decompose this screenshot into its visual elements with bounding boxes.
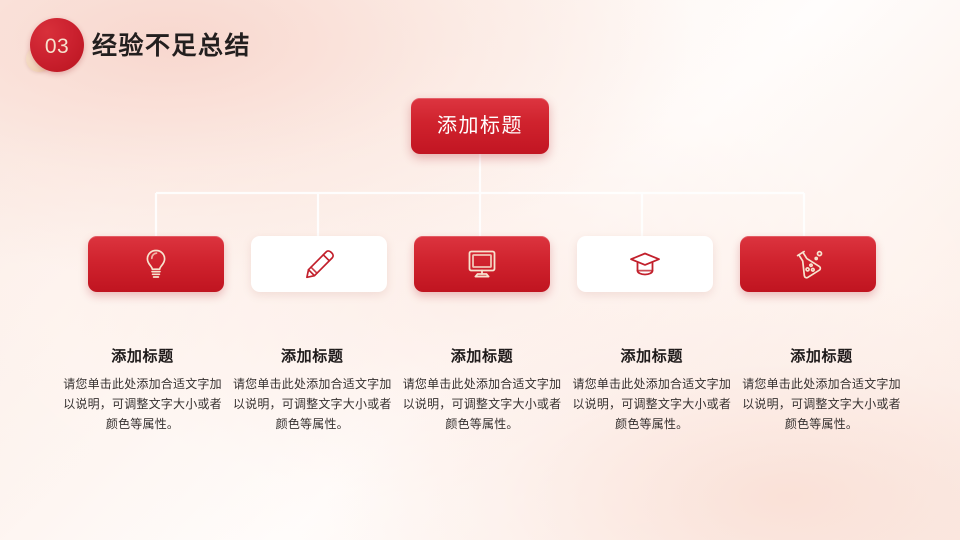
icon-box-1[interactable] [88,236,224,292]
column-description: 请您单击此处添加合适文字加以说明，可调整文字大小或者颜色等属性。 [739,375,904,434]
graduation-cap-icon [628,249,662,279]
column-description: 请您单击此处添加合适文字加以说明，可调整文字大小或者颜色等属性。 [230,375,395,434]
page-title: 经验不足总结 [92,26,251,62]
icon-box-5[interactable] [740,236,876,292]
text-column-3: 添加标题 请您单击此处添加合适文字加以说明，可调整文字大小或者颜色等属性。 [400,348,565,434]
icon-box-4[interactable] [577,236,713,292]
slide-header: 03 经验不足总结 [0,0,960,90]
column-title: 添加标题 [60,348,225,366]
column-title: 添加标题 [400,348,565,366]
column-title: 添加标题 [230,348,395,366]
column-description: 请您单击此处添加合适文字加以说明，可调整文字大小或者颜色等属性。 [400,375,565,434]
root-node-button[interactable]: 添加标题 [411,98,549,154]
monitor-icon [465,248,499,280]
pencil-icon [302,247,336,281]
column-description: 请您单击此处添加合适文字加以说明，可调整文字大小或者颜色等属性。 [569,375,734,434]
section-badge: 03 [26,16,84,74]
icon-box-2[interactable] [251,236,387,292]
column-description: 请您单击此处添加合适文字加以说明，可调整文字大小或者颜色等属性。 [60,375,225,434]
column-title: 添加标题 [739,348,904,366]
icon-row [88,236,876,292]
text-column-2: 添加标题 请您单击此处添加合适文字加以说明，可调整文字大小或者颜色等属性。 [230,348,395,434]
text-column-1: 添加标题 请您单击此处添加合适文字加以说明，可调整文字大小或者颜色等属性。 [60,348,225,434]
icon-box-3[interactable] [414,236,550,292]
root-node-label: 添加标题 [437,116,523,136]
badge-circle: 03 [30,18,84,72]
column-title: 添加标题 [569,348,734,366]
text-column-4: 添加标题 请您单击此处添加合适文字加以说明，可调整文字大小或者颜色等属性。 [569,348,734,434]
badge-number: 03 [45,36,69,57]
description-row: 添加标题 请您单击此处添加合适文字加以说明，可调整文字大小或者颜色等属性。 添加… [60,348,904,434]
lightbulb-icon [140,247,172,281]
flask-icon [790,247,826,281]
slide-canvas: 03 经验不足总结 添加标题 [0,0,960,540]
text-column-5: 添加标题 请您单击此处添加合适文字加以说明，可调整文字大小或者颜色等属性。 [739,348,904,434]
